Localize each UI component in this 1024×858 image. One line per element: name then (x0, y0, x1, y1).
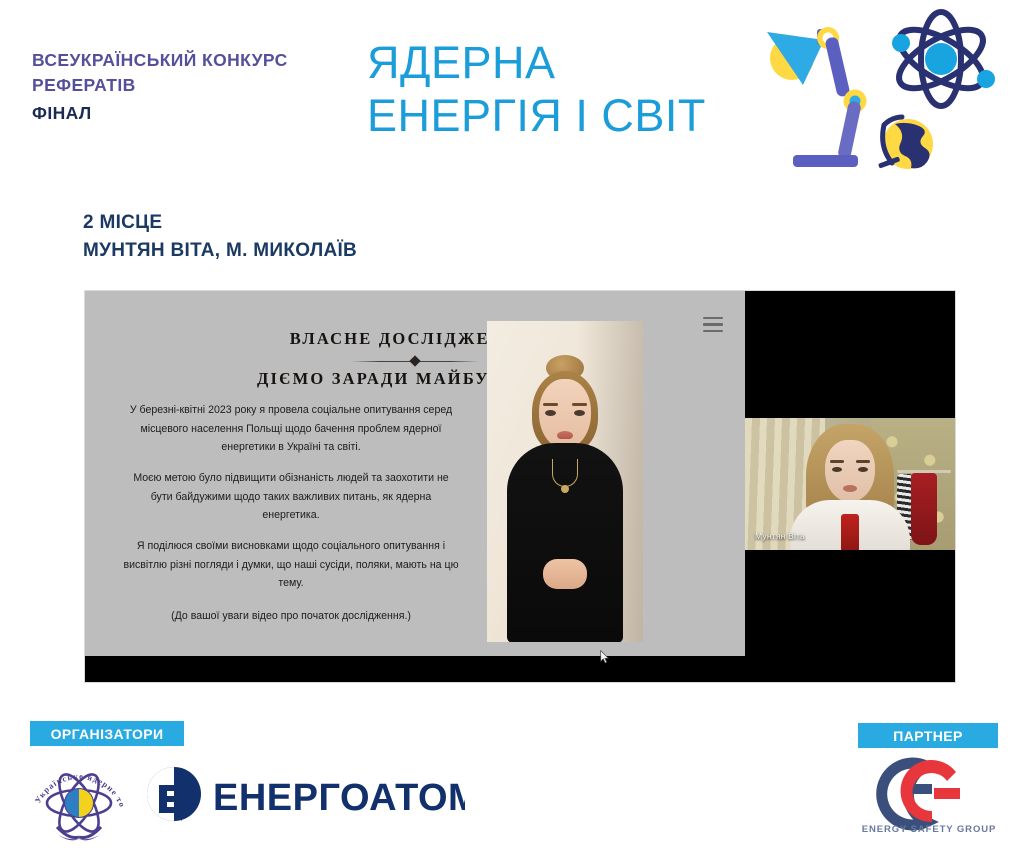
webcam-eyebrow-right (856, 460, 870, 463)
rack-garment-red (911, 473, 937, 545)
contest-title-line-1: ВСЕУКРАЇНСЬКИЙ КОНКУРС (32, 48, 288, 73)
award-caption: 2 МІСЦЕ МУНТЯН ВІТА, М. МИКОЛАЇВ (83, 209, 357, 265)
mouse-cursor-icon (600, 650, 609, 664)
presentation-slide: ВЛАСНЕ ДОСЛІДЖЕННЯ. ДІЄМО ЗАРАДИ МАЙБУТН… (85, 291, 745, 656)
slide-ornament-divider (351, 355, 479, 367)
webcam-eyebrow-left (830, 460, 844, 463)
header-artwork-svg (745, 4, 1021, 179)
webcam-participant-label: Мунтян Віта (755, 531, 805, 541)
energoatom-logo: ЕНЕРГОАТОМ (145, 765, 465, 823)
slide-paragraph-1: У березні-квітні 2023 року я провела соц… (121, 401, 461, 457)
hamburger-bar (703, 323, 723, 325)
ukrainian-nuclear-society-logo: Українське ядерне товариство (23, 748, 135, 850)
webcam-lips (843, 485, 857, 492)
webcam-eye-right (858, 467, 868, 472)
hamburger-bar (703, 330, 723, 332)
video-player[interactable]: ВЛАСНЕ ДОСЛІДЖЕННЯ. ДІЄМО ЗАРАДИ МАЙБУТН… (85, 291, 955, 682)
header-artwork (745, 4, 1021, 179)
presenter-eye-right (574, 410, 585, 416)
page-title-line-2: ЕНЕРГІЯ І СВІТ (367, 89, 706, 142)
atom-nucleus (925, 43, 957, 75)
award-place: 2 МІСЦЕ (83, 209, 357, 237)
contest-title-line-2: РЕФЕРАТІВ (32, 73, 288, 98)
webcam-thumbnail[interactable]: Мунтян Віта (745, 418, 955, 550)
esg-caption: ENERGY SAFETY GROUP (856, 824, 1002, 835)
presenter-necklace-chain (552, 459, 578, 487)
presenter-hands (543, 559, 587, 589)
presenter-eyebrow-left (543, 403, 558, 406)
page-header: ВСЕУКРАЇНСЬКИЙ КОНКУРС РЕФЕРАТІВ ФІНАЛ Я… (0, 0, 1024, 190)
atom-electron (977, 70, 995, 88)
presenter-eye-left (545, 410, 556, 416)
webcam-eye-left (832, 467, 842, 472)
presenter-eyebrow-right (572, 403, 587, 406)
presenter-necklace-pendant (561, 485, 569, 493)
page-title-line-1: ЯДЕРНА (367, 36, 706, 89)
atom-electron (892, 34, 910, 52)
divider-diamond-icon (409, 355, 420, 366)
contest-stage-label: ФІНАЛ (32, 101, 288, 126)
slide-paragraph-3: Я поділюся своїми висновками щодо соціал… (121, 537, 461, 593)
energoatom-wordmark: ЕНЕРГОАТОМ (213, 777, 465, 819)
slide-paragraph-4: (До вашої уваги відео про початок дослід… (121, 607, 461, 626)
contest-title-block: ВСЕУКРАЇНСЬКИЙ КОНКУРС РЕФЕРАТІВ ФІНАЛ (32, 48, 288, 126)
desk-lamp-icon (767, 27, 867, 167)
hamburger-menu-icon[interactable] (703, 317, 723, 332)
presenter-video-clip (487, 321, 643, 642)
webcam-shirt-embroidery (841, 514, 859, 550)
slide-title-line-2: ДІЄМО ЗАРАДИ МАЙБУТНЬОГО (85, 369, 745, 389)
organizers-badge: ОРГАНІЗАТОРИ (30, 721, 184, 746)
slide-paragraph-2: Моєю метою було підвищити обізнаність лю… (121, 469, 461, 525)
page-title: ЯДЕРНА ЕНЕРГІЯ І СВІТ (367, 36, 706, 142)
partner-badge: ПАРТНЕР (858, 723, 998, 748)
award-participant: МУНТЯН ВІТА, М. МИКОЛАЇВ (83, 237, 357, 265)
globe-icon (878, 117, 933, 169)
hamburger-bar (703, 317, 723, 319)
slide-title-line-1: ВЛАСНЕ ДОСЛІДЖЕННЯ. (85, 329, 745, 349)
